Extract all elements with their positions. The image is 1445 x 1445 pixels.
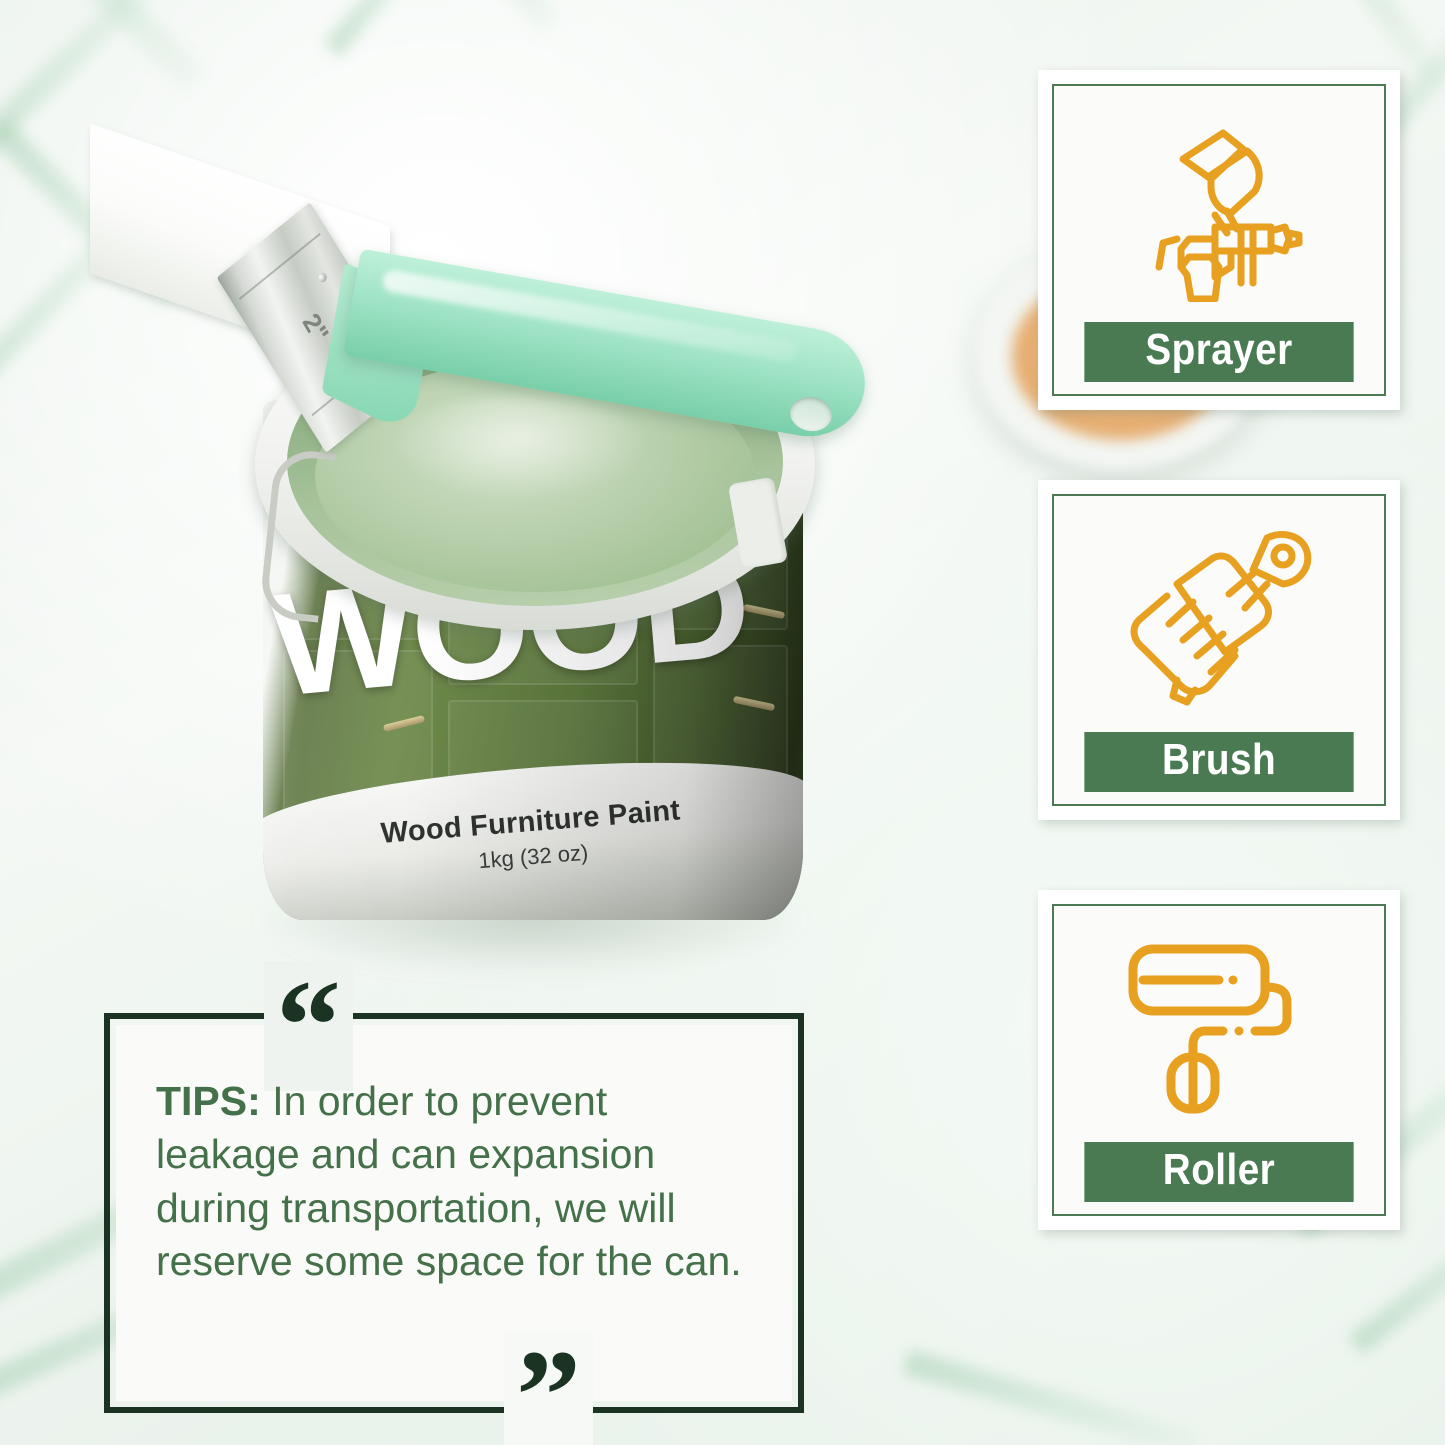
ferrule-rivet	[317, 271, 329, 284]
brush-size-marking: 2"	[296, 307, 334, 349]
product-infographic: Dwil WOOD Wood Furniture Paint 1kg (32 o…	[0, 0, 1445, 1445]
method-card-roller[interactable]: Roller	[1038, 890, 1400, 1230]
tips-callout: “ TIPS: In order to prevent leakage and …	[104, 1013, 804, 1413]
paint-brush: 2"	[90, 175, 970, 495]
method-label-brush: Brush	[1084, 732, 1353, 792]
tips-heading: TIPS:	[156, 1078, 261, 1124]
method-label-roller: Roller	[1084, 1142, 1353, 1202]
method-label-sprayer: Sprayer	[1084, 322, 1353, 382]
quote-open-icon: “	[264, 961, 353, 1091]
paint-roller-icon	[1066, 916, 1372, 1142]
application-methods-list: Sprayer	[1038, 70, 1400, 1300]
quote-close-icon: ”	[504, 1331, 593, 1445]
spray-gun-icon	[1066, 96, 1372, 322]
card-inner-frame: Roller	[1052, 904, 1386, 1216]
tips-text: TIPS: In order to prevent leakage and ca…	[156, 1075, 754, 1288]
paint-brush-icon	[1066, 506, 1372, 732]
card-inner-frame: Sprayer	[1052, 84, 1386, 396]
card-inner-frame: Brush	[1052, 494, 1386, 806]
method-card-sprayer[interactable]: Sprayer	[1038, 70, 1400, 410]
method-card-brush[interactable]: Brush	[1038, 480, 1400, 820]
